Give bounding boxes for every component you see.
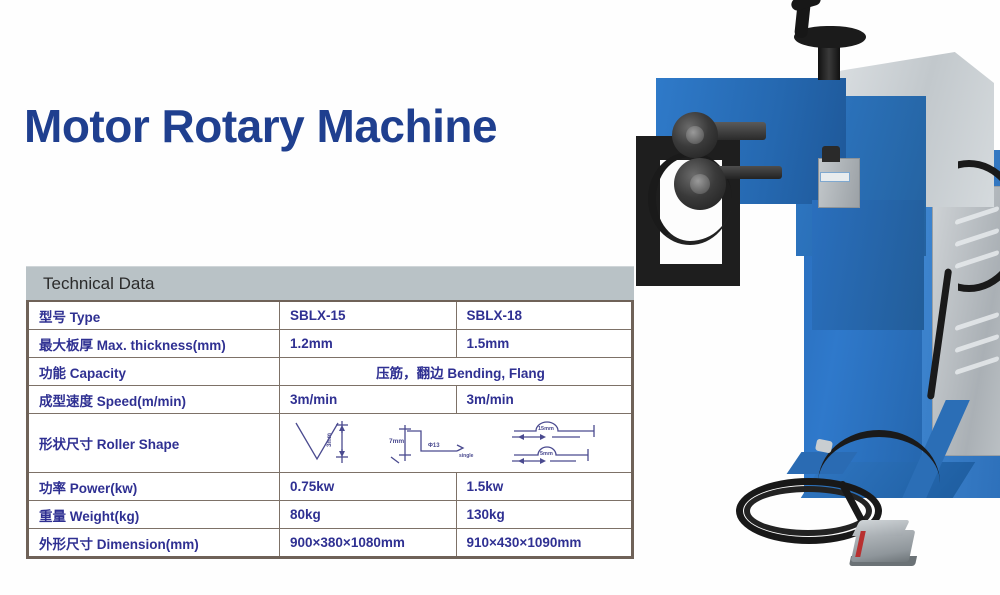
row-value-col1: 1.2mm [280,330,457,358]
row-value-merged: 压筋，翻边 Bending, Flang [280,358,633,386]
table-row: 功能 Capacity 压筋，翻边 Bending, Flang [28,358,633,386]
row-value-col2: 130kg [456,501,633,529]
table-row: 外形尺寸 Dimension(mm) 900×380×1080mm 910×43… [28,529,633,558]
step-flange-note2-label: single [459,453,474,459]
page-title: Motor Rotary Machine [24,99,497,153]
row-label: 重量 Weight(kg) [28,501,280,529]
machine-head-blue-lower [812,200,924,330]
table-row-roller-shape: 形状尺寸 Roller Shape [28,414,633,473]
upper-roller-hub [686,126,704,144]
row-value-col2: 1.5mm [456,330,633,358]
bead-large-dimension-label: 15mm [538,426,554,432]
row-value-col1: SBLX-15 [280,301,457,330]
table-row: 型号 Type SBLX-15 SBLX-18 [28,301,633,330]
table-header-title: Technical Data [26,266,634,300]
row-value-col1: 80kg [280,501,457,529]
row-value-col2: 1.5kw [456,473,633,501]
product-spec-sheet: Motor Rotary Machine Technical Data 型号 T… [0,0,1000,595]
row-label: 型号 Type [28,301,280,330]
step-flange-profile-icon: 7mm Φ13 single [383,417,483,469]
machine-nameplate [820,172,850,182]
table-row: 成型速度 Speed(m/min) 3m/min 3m/min [28,386,633,414]
table-row: 功率 Power(kw) 0.75kw 1.5kw [28,473,633,501]
row-label: 功能 Capacity [28,358,280,386]
row-label: 功率 Power(kw) [28,473,280,501]
row-value-col2: 3m/min [456,386,633,414]
table-row: 最大板厚 Max. thickness(mm) 1.2mm 1.5mm [28,330,633,358]
step-flange-note-label: Φ13 [428,443,440,449]
spec-table: 型号 Type SBLX-15 SBLX-18 最大板厚 Max. thickn… [26,300,634,559]
step-flange-dimension-label: 7mm [389,438,404,445]
bead-profiles-icon: 15mm 5mm [502,417,622,469]
row-label: 外形尺寸 Dimension(mm) [28,529,280,558]
row-label: 形状尺寸 Roller Shape [28,414,280,473]
technical-data-table: Technical Data 型号 Type SBLX-15 SBLX-18 最… [26,266,634,559]
row-value-col1: 900×380×1080mm [280,529,457,558]
row-value-col1: 3m/min [280,386,457,414]
lower-roller-hub [690,174,710,194]
machine-photo [636,0,1000,595]
row-label: 最大板厚 Max. thickness(mm) [28,330,280,358]
roller-shape-diagrams-cell: 3mm [280,414,633,473]
machine-control-box [818,158,860,208]
row-value-col2: 910×430×1090mm [456,529,633,558]
row-label: 成型速度 Speed(m/min) [28,386,280,414]
table-row: 重量 Weight(kg) 80kg 130kg [28,501,633,529]
row-value-col1: 0.75kw [280,473,457,501]
bead-small-dimension-label: 5mm [540,451,553,457]
row-value-col2: SBLX-18 [456,301,633,330]
machine-switch [822,146,840,162]
v-groove-dimension-label: 3mm [327,433,333,447]
v-groove-profile-icon: 3mm [290,417,364,469]
